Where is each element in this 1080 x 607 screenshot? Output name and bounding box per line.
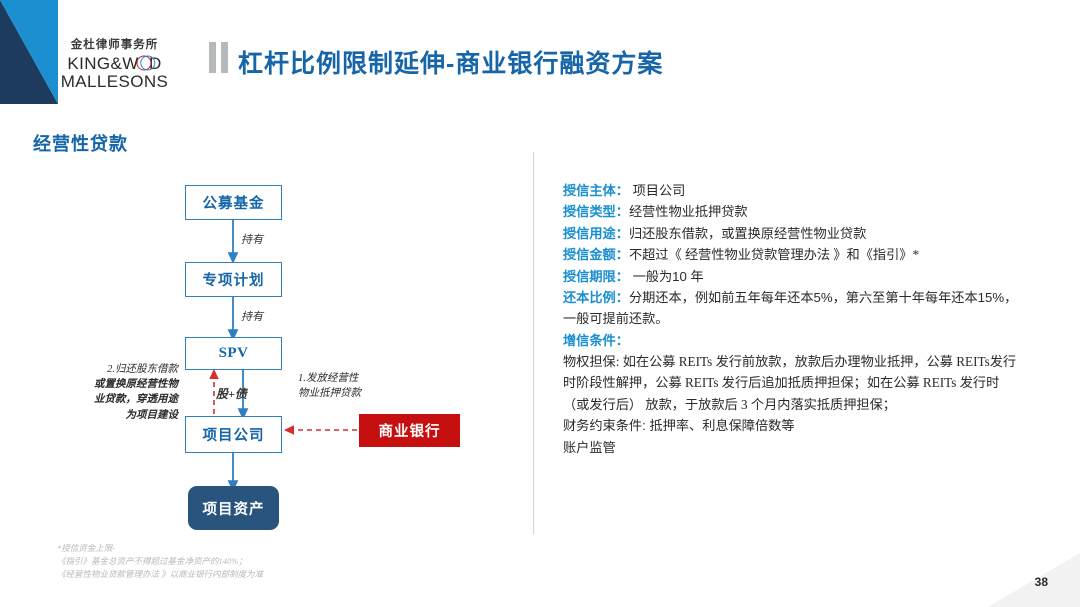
panel-key-credit-term: 授信期限： bbox=[563, 269, 629, 284]
panel-row-credit-type: 授信类型：经营性物业抵押贷款 bbox=[563, 201, 1018, 222]
panel-paragraph-financial-covenants: 财务约束条件: 抵押率、利息保障倍数等 bbox=[563, 415, 1018, 436]
footnote: *授信资金上限- 《指引》基金总资产不得超过基金净资产的140%； 《经营性物业… bbox=[57, 542, 263, 582]
footnote-line-1: *授信资金上限- bbox=[57, 542, 263, 555]
flow-box-commercial-bank[interactable]: 商业银行 bbox=[359, 414, 460, 447]
flowchart: 公募基金 持有 专项计划 持有 SPV 股+债 项目公司 项目资产 商业银行 2… bbox=[0, 0, 533, 607]
panel-key-credit-purpose: 授信用途： bbox=[563, 226, 629, 241]
flow-box-spv[interactable]: SPV bbox=[185, 337, 282, 370]
panel-key-repayment-ratio: 还本比例： bbox=[563, 290, 629, 305]
flow-note-left: 2.归还股东借款 或置换原经营性物 业贷款，穿透用途 为项目建设 bbox=[73, 362, 178, 423]
flow-note-left-line-4: 为项目建设 bbox=[126, 410, 179, 421]
panel-key-credit-type: 授信类型： bbox=[563, 204, 629, 219]
panel-value-repayment-ratio: 分期还本，例如前五年每年还本5%，第六至第十年每年还本15%，一般可提前还款。 bbox=[563, 290, 1017, 326]
vertical-divider bbox=[533, 152, 534, 534]
page-number: 38 bbox=[1035, 575, 1048, 589]
panel-value-credit-purpose: 归还股东借款，或置换原经营性物业贷款 bbox=[629, 226, 866, 241]
flow-label-hold-2: 持有 bbox=[241, 308, 263, 324]
panel-value-credit-type: 经营性物业抵押贷款 bbox=[629, 204, 748, 219]
flow-note-right: 1.发放经营性 物业抵押贷款 bbox=[298, 371, 390, 401]
panel-row-credit-term: 授信期限： 一般为10 年 bbox=[563, 266, 1018, 287]
flow-note-left-line-1: 2.归还股东借款 bbox=[107, 364, 178, 375]
flow-label-equity-debt: 股+债 bbox=[216, 385, 247, 402]
footnote-line-2: 《指引》基金总资产不得超过基金净资产的140%； bbox=[57, 555, 263, 568]
flow-box-project-company[interactable]: 项目公司 bbox=[185, 416, 282, 453]
flow-note-left-line-2: 或置换原经营性物 bbox=[94, 379, 178, 390]
panel-paragraph-property-guarantee: 物权担保: 如在公募 REITs 发行前放款，放款后办理物业抵押，公募 REIT… bbox=[563, 351, 1018, 415]
flow-note-left-line-3: 业贷款，穿透用途 bbox=[94, 394, 178, 405]
panel-key-credit-enhancement: 增信条件： bbox=[563, 333, 629, 348]
details-panel: 授信主体： 项目公司 授信类型：经营性物业抵押贷款 授信用途：归还股东借款，或置… bbox=[563, 180, 1018, 458]
flow-box-project-asset[interactable]: 项目资产 bbox=[188, 486, 279, 530]
panel-row-repayment-ratio: 还本比例：分期还本，例如前五年每年还本5%，第六至第十年每年还本15%，一般可提… bbox=[563, 287, 1018, 330]
panel-row-credit-purpose: 授信用途：归还股东借款，或置换原经营性物业贷款 bbox=[563, 223, 1018, 244]
flow-label-hold-1: 持有 bbox=[241, 231, 263, 247]
panel-value-credit-amount: 不超过《 经营性物业贷款管理办法 》和《指引》* bbox=[629, 247, 919, 262]
panel-row-credit-subject: 授信主体： 项目公司 bbox=[563, 180, 1018, 201]
panel-row-credit-enhancement: 增信条件： bbox=[563, 330, 1018, 351]
footnote-line-3: 《经营性物业贷款管理办法 》以商业银行内部制度为准 bbox=[57, 568, 263, 581]
flow-box-public-fund[interactable]: 公募基金 bbox=[185, 185, 282, 220]
flow-note-right-line-2: 物业抵押贷款 bbox=[298, 388, 361, 399]
panel-row-credit-amount: 授信金额：不超过《 经营性物业贷款管理办法 》和《指引》* bbox=[563, 244, 1018, 265]
flow-note-right-line-1: 1.发放经营性 bbox=[298, 373, 358, 384]
panel-key-credit-amount: 授信金额： bbox=[563, 247, 629, 262]
panel-value-credit-subject: 项目公司 bbox=[629, 183, 685, 198]
panel-paragraph-account-supervision: 账户监管 bbox=[563, 437, 1018, 458]
panel-value-credit-term: 一般为10 年 bbox=[629, 269, 704, 284]
panel-key-credit-subject: 授信主体： bbox=[563, 183, 629, 198]
flow-box-special-plan[interactable]: 专项计划 bbox=[185, 262, 282, 297]
